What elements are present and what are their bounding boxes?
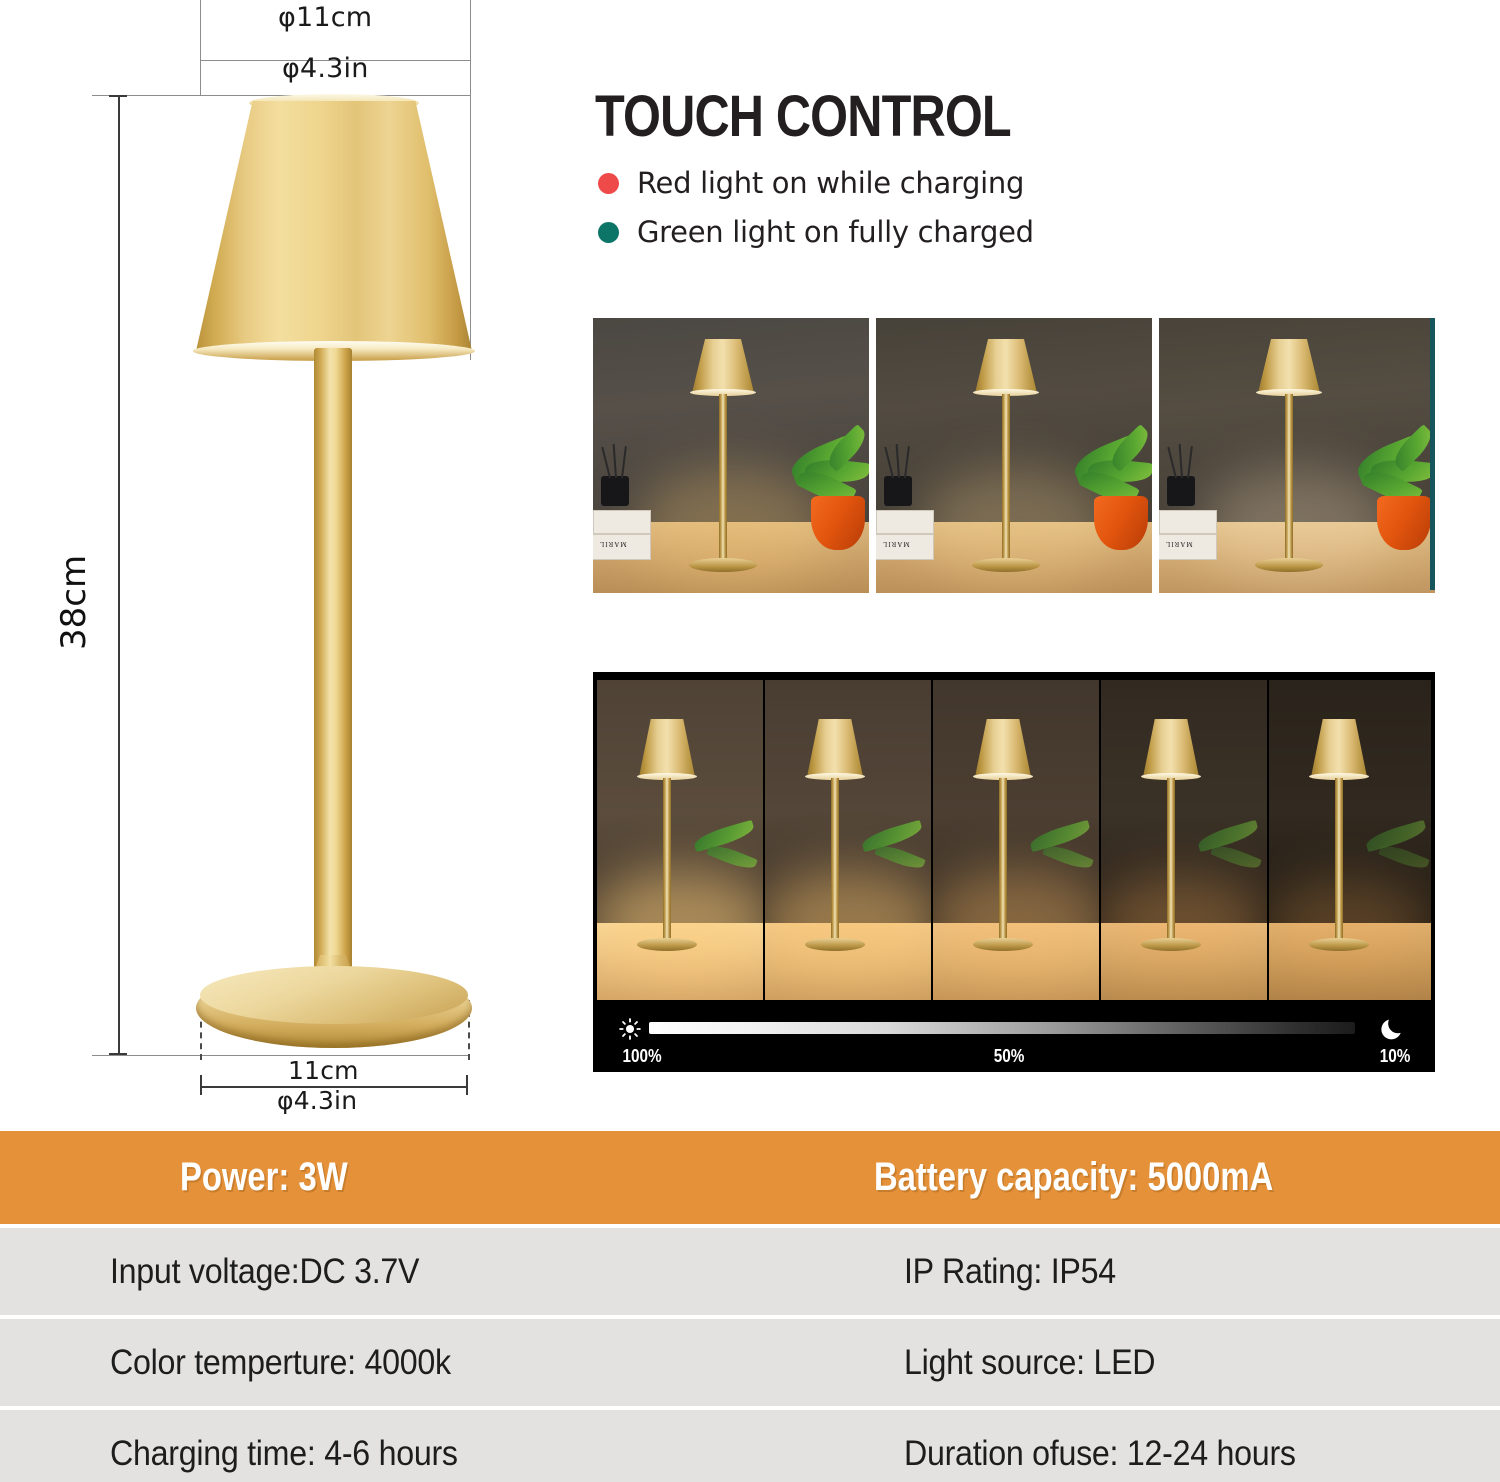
dim-scene: [933, 680, 1099, 1000]
base-width-cm-label: 11cm: [288, 1056, 359, 1085]
spec-value: Charging time: 4-6 hours: [110, 1434, 458, 1474]
lamp-scene: MARIL: [593, 318, 869, 593]
base-width-in-label: φ4.3in: [277, 1086, 357, 1115]
book-title-text: MARIL: [599, 540, 627, 548]
cct-panel-4000k: MARIL: [876, 318, 1152, 593]
spec-header-row: Power: 3W Battery capacity: 5000mA: [0, 1131, 1500, 1224]
book-stack-top: [593, 510, 651, 534]
brightness-label-50: 50%: [994, 1046, 1025, 1067]
lamp-scene: MARIL: [1159, 318, 1435, 593]
spec-row-1: Input voltage:DC 3.7V IP Rating: IP54: [0, 1228, 1500, 1315]
scene-lamp-stem: [663, 778, 671, 944]
scene-lamp-base: [973, 938, 1033, 951]
red-indicator-dot: [598, 173, 619, 194]
spec-cell-color-temperature: Color temperture: 4000k: [0, 1319, 744, 1406]
spec-value: Color temperture: 4000k: [110, 1343, 451, 1383]
scene-lamp-stem: [831, 778, 839, 944]
scene-lamp-stem: [1002, 394, 1010, 564]
spec-row-3: Charging time: 4-6 hours Duration ofuse:…: [0, 1410, 1500, 1482]
scene-lamp-base: [1141, 938, 1201, 951]
dimension-diagram: φ11cm φ4.3in 38cm 11cm φ4.3in: [0, 0, 590, 1120]
scene-lamp-stem: [1285, 394, 1293, 564]
brightness-slider[interactable]: 100% 50% 10%: [593, 1000, 1435, 1072]
scene-lamp-base: [1255, 558, 1323, 572]
moon-icon: [1379, 1016, 1405, 1042]
book-stack-top: [876, 510, 934, 534]
book-stack-top: [1159, 510, 1217, 534]
brightness-label-100: 100%: [622, 1046, 661, 1067]
spec-cell-charging-time: Charging time: 4-6 hours: [0, 1410, 744, 1482]
product-infographic: φ11cm φ4.3in 38cm 11cm φ4.3in TOUCH CONT…: [0, 0, 1500, 1482]
scene-lamp-base: [805, 938, 865, 951]
scene-lamp-base: [1309, 938, 1369, 951]
bullet-green-charged: Green light on fully charged: [598, 215, 1034, 249]
dim-step-5: [1269, 680, 1431, 1000]
scene-glow: [597, 870, 763, 980]
book-title-text: MARIL: [1165, 540, 1193, 548]
dim-step-1: [597, 680, 763, 1000]
spec-cell-ip-rating: IP Rating: IP54: [744, 1228, 1500, 1315]
spec-header-battery: Battery capacity: 5000mA: [874, 1155, 1273, 1200]
spec-row-2: Color temperture: 4000k Light source: LE…: [0, 1319, 1500, 1406]
scene-lamp-stem: [719, 394, 727, 564]
spec-cell-duration-of-use: Duration ofuse: 12-24 hours: [744, 1410, 1500, 1482]
dim-scene: [1101, 680, 1267, 1000]
lamp-shade: [196, 101, 472, 351]
scene-lamp-stem: [1167, 778, 1175, 944]
dim-scene: [1269, 680, 1431, 1000]
brightness-track[interactable]: [649, 1022, 1355, 1034]
dim-step-4: [1101, 680, 1267, 1000]
scene-lamp-base: [637, 938, 697, 951]
panel-edge-accent: [1430, 318, 1435, 590]
top-diameter-cm-label: φ11cm: [278, 2, 372, 33]
height-label: 38cm: [54, 590, 94, 650]
top-diameter-in-label: φ4.3in: [282, 53, 369, 84]
bullet-label: Red light on while charging: [637, 166, 1024, 200]
scene-glow: [765, 870, 931, 980]
spec-value: Duration ofuse: 12-24 hours: [904, 1434, 1296, 1474]
brightness-label-10: 10%: [1380, 1046, 1411, 1067]
dim-scene: [597, 680, 763, 1000]
color-temperature-gallery: MARIL 2700K Warm Light: [593, 318, 1435, 593]
scene-lamp-stem: [1335, 778, 1343, 944]
lamp-base-top: [200, 966, 468, 1024]
scene-lamp-stem: [999, 778, 1007, 944]
dimming-demo-strip: 100% 50% 10%: [593, 672, 1435, 1072]
spec-cell-light-source: Light source: LED: [744, 1319, 1500, 1406]
reed-diffuser: [1167, 476, 1195, 506]
scene-glow: [1269, 880, 1431, 975]
book-title-text: MARIL: [882, 540, 910, 548]
spec-header-cell-right: Battery capacity: 5000mA: [744, 1131, 1500, 1224]
cct-panel-2700k: MARIL: [593, 318, 869, 593]
reed-diffuser: [884, 476, 912, 506]
dim-step-2: [765, 680, 931, 1000]
dim-step-3: [933, 680, 1099, 1000]
spec-header-cell-left: Power: 3W: [0, 1131, 744, 1224]
bullet-red-charging: Red light on while charging: [598, 166, 1024, 200]
bullet-label: Green light on fully charged: [637, 215, 1034, 249]
spec-header-power: Power: 3W: [180, 1155, 348, 1200]
lamp-stem: [314, 348, 352, 978]
reed-diffuser: [601, 476, 629, 506]
scene-glow: [1101, 876, 1267, 976]
green-indicator-dot: [598, 222, 619, 243]
page-title: TOUCH CONTROL: [595, 83, 1011, 150]
spec-cell-input-voltage: Input voltage:DC 3.7V: [0, 1228, 744, 1315]
dim-scene: [765, 680, 931, 1000]
sun-icon: [619, 1018, 641, 1040]
spec-value: IP Rating: IP54: [904, 1252, 1116, 1292]
cct-panel-6500k: MARIL: [1159, 318, 1435, 593]
spec-value: Input voltage:DC 3.7V: [110, 1252, 419, 1292]
scene-lamp-base: [689, 558, 757, 572]
scene-glow: [933, 870, 1099, 980]
lamp-scene: MARIL: [876, 318, 1152, 593]
spec-value: Light source: LED: [904, 1343, 1155, 1383]
specification-table: Power: 3W Battery capacity: 5000mA Input…: [0, 1131, 1500, 1482]
scene-lamp-base: [972, 558, 1040, 572]
